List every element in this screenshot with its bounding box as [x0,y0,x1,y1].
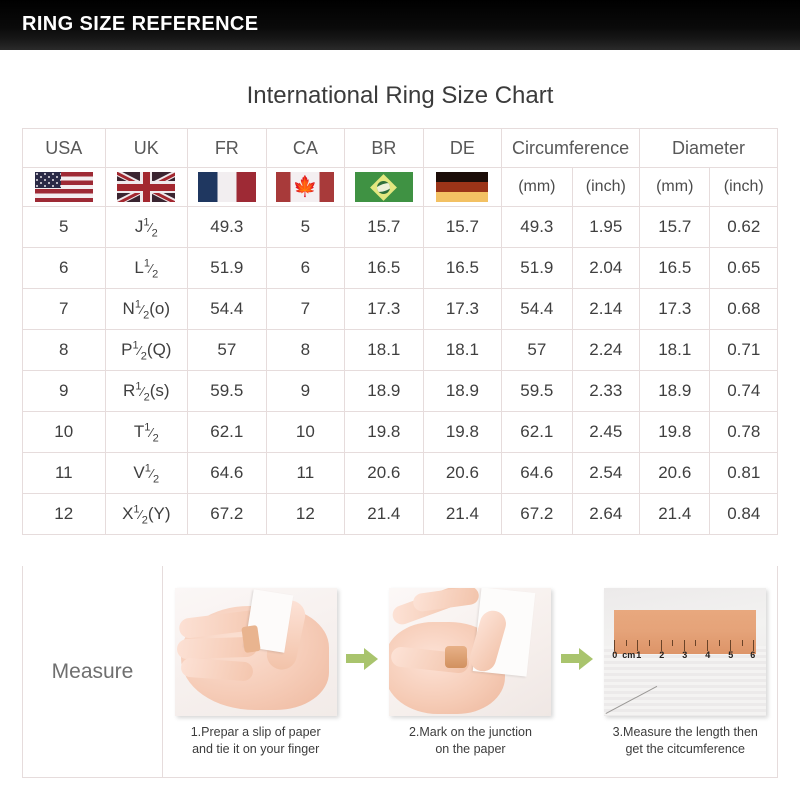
ruler-label: 1 [636,650,641,660]
cell-circumference-inch: 2.14 [572,289,639,330]
page-banner: RING SIZE REFERENCE [0,0,800,50]
caption-line-1: 2.Mark on the junction [409,725,532,739]
table-row: 8P1⁄2(Q)57818.118.1572.2418.10.71 [23,330,778,371]
measure-step-1: 1.Prepar a slip of paper and tie it on y… [171,588,341,758]
ruler-label: 4 [705,650,710,660]
column-header-circumference: Circumference [502,129,640,168]
measure-section: Measure 1.Prepar a slip of paper and tie… [22,566,778,778]
column-header-br: BR [345,129,424,168]
cell-ca-size: 12 [266,494,345,535]
measure-step-3: 0cm123456 3.Measure the length then get … [600,588,770,758]
measure-steps: 1.Prepar a slip of paper and tie it on y… [164,566,777,777]
cell-usa-size: 12 [23,494,106,535]
cell-circumference-mm: 51.9 [502,248,572,289]
cell-circumference-mm: 62.1 [502,412,572,453]
br-flag-icon [355,172,413,202]
cell-circumference-mm: 64.6 [502,453,572,494]
subheader-circumference-mm: (mm) [502,168,572,207]
cell-usa-size: 7 [23,289,106,330]
cell-diameter-mm: 17.3 [640,289,710,330]
cell-circumference-inch: 2.54 [572,453,639,494]
cell-diameter-mm: 18.1 [640,330,710,371]
ruler-label: cm [622,650,635,660]
subheader-diameter-mm: (mm) [640,168,710,207]
cell-br-size: 17.3 [345,289,424,330]
ruler-measuring-strip-photo: 0cm123456 [604,588,766,716]
cell-diameter-mm: 16.5 [640,248,710,289]
cell-fr-size: 51.9 [188,248,267,289]
cell-br-size: 21.4 [345,494,424,535]
marking-junction-photo [389,588,551,716]
cell-de-size: 18.1 [423,330,502,371]
cell-ca-size: 6 [266,248,345,289]
uk-flag-icon [117,172,175,202]
ruler-label: 6 [750,650,755,660]
fr-flag-icon [198,172,256,202]
cell-br-size: 16.5 [345,248,424,289]
caption-line-2: on the paper [435,742,505,756]
cell-circumference-inch: 2.24 [572,330,639,371]
cell-uk-size: J1⁄2 [105,207,188,248]
cell-diameter-inch: 0.65 [710,248,778,289]
cell-circumference-mm: 49.3 [502,207,572,248]
cell-diameter-inch: 0.74 [710,371,778,412]
cell-diameter-inch: 0.81 [710,453,778,494]
column-header-uk: UK [105,129,188,168]
cell-usa-size: 10 [23,412,106,453]
ca-flag-icon: 🍁 [276,172,334,202]
arrow-right-icon-2 [561,646,595,672]
us-flag-icon [35,172,93,202]
cell-uk-size: V1⁄2 [105,453,188,494]
cell-fr-size: 57 [188,330,267,371]
cell-fr-size: 59.5 [188,371,267,412]
cell-de-size: 19.8 [423,412,502,453]
cell-circumference-mm: 59.5 [502,371,572,412]
cell-uk-size: P1⁄2(Q) [105,330,188,371]
cell-diameter-mm: 19.8 [640,412,710,453]
cell-diameter-mm: 18.9 [640,371,710,412]
cell-fr-size: 62.1 [188,412,267,453]
cell-diameter-mm: 15.7 [640,207,710,248]
column-header-ca: CA [266,129,345,168]
ruler-label: 2 [659,650,664,660]
cell-de-size: 21.4 [423,494,502,535]
caption-line-1: 3.Measure the length then [613,725,758,739]
cell-ca-size: 7 [266,289,345,330]
cell-usa-size: 11 [23,453,106,494]
ruler-label: 5 [728,650,733,660]
cell-uk-size: L1⁄2 [105,248,188,289]
de-flag-icon [436,172,488,202]
cell-fr-size: 54.4 [188,289,267,330]
cell-usa-size: 8 [23,330,106,371]
measure-step-1-caption: 1.Prepar a slip of paper and tie it on y… [191,724,321,758]
table-row: 7N1⁄2(o)54.4717.317.354.42.1417.30.68 [23,289,778,330]
table-row: 6L1⁄251.9616.516.551.92.0416.50.65 [23,248,778,289]
cell-br-size: 19.8 [345,412,424,453]
cell-circumference-mm: 67.2 [502,494,572,535]
cell-ca-size: 10 [266,412,345,453]
cell-ca-size: 11 [266,453,345,494]
cell-diameter-inch: 0.68 [710,289,778,330]
cell-ca-size: 5 [266,207,345,248]
column-header-de: DE [423,129,502,168]
cell-ca-size: 8 [266,330,345,371]
cell-usa-size: 9 [23,371,106,412]
column-header-diameter: Diameter [640,129,778,168]
cell-diameter-inch: 0.78 [710,412,778,453]
cell-uk-size: X1⁄2(Y) [105,494,188,535]
cell-diameter-mm: 21.4 [640,494,710,535]
caption-line-1: 1.Prepar a slip of paper [191,725,321,739]
caption-line-2: and tie it on your finger [192,742,319,756]
cell-fr-size: 64.6 [188,453,267,494]
table-row: 12X1⁄2(Y)67.21221.421.467.22.6421.40.84 [23,494,778,535]
table-row: 11V1⁄264.61120.620.664.62.5420.60.81 [23,453,778,494]
ring-size-table: USA UK FR CA BR DE Circumference Diamete… [22,128,778,535]
table-row: 9R1⁄2(s)59.5918.918.959.52.3318.90.74 [23,371,778,412]
table-flag-row: 🍁 (mm) (inch) (mm) (inch) [23,168,778,207]
table-row: 10T1⁄262.11019.819.862.12.4519.80.78 [23,412,778,453]
cell-circumference-mm: 54.4 [502,289,572,330]
table-header-row: USA UK FR CA BR DE Circumference Diamete… [23,129,778,168]
cell-diameter-mm: 20.6 [640,453,710,494]
ruler-numbers: 0cm123456 [612,650,760,664]
table-body: 5J1⁄249.3515.715.749.31.9515.70.626L1⁄25… [23,207,778,535]
arrow-right-icon-1 [346,646,380,672]
cell-usa-size: 5 [23,207,106,248]
ruler-label: 0 [612,650,617,660]
cell-diameter-inch: 0.71 [710,330,778,371]
flag-cell-usa [23,168,106,207]
cell-circumference-inch: 2.33 [572,371,639,412]
measure-label: Measure [23,566,163,777]
cell-circumference-inch: 2.45 [572,412,639,453]
cell-diameter-inch: 0.84 [710,494,778,535]
cell-de-size: 17.3 [423,289,502,330]
cell-ca-size: 9 [266,371,345,412]
cell-de-size: 20.6 [423,453,502,494]
flag-cell-fr [188,168,267,207]
cell-diameter-inch: 0.62 [710,207,778,248]
column-header-fr: FR [188,129,267,168]
cell-uk-size: T1⁄2 [105,412,188,453]
cell-de-size: 15.7 [423,207,502,248]
cell-circumference-inch: 1.95 [572,207,639,248]
flag-cell-de [423,168,502,207]
ruler-label: 3 [682,650,687,660]
caption-line-2: get the citcumference [625,742,745,756]
flag-cell-uk [105,168,188,207]
banner-title: RING SIZE REFERENCE [22,13,259,36]
cell-br-size: 15.7 [345,207,424,248]
cell-de-size: 18.9 [423,371,502,412]
cell-fr-size: 67.2 [188,494,267,535]
cell-br-size: 20.6 [345,453,424,494]
flag-cell-ca: 🍁 [266,168,345,207]
cell-uk-size: R1⁄2(s) [105,371,188,412]
cell-fr-size: 49.3 [188,207,267,248]
cell-circumference-mm: 57 [502,330,572,371]
ring-size-reference-page: RING SIZE REFERENCE International Ring S… [0,0,800,800]
cell-circumference-inch: 2.64 [572,494,639,535]
cell-circumference-inch: 2.04 [572,248,639,289]
cell-de-size: 16.5 [423,248,502,289]
flag-cell-br [345,168,424,207]
cell-uk-size: N1⁄2(o) [105,289,188,330]
measure-step-2-caption: 2.Mark on the junction on the paper [409,724,532,758]
measure-step-3-caption: 3.Measure the length then get the citcum… [613,724,758,758]
subheader-circumference-inch: (inch) [572,168,639,207]
column-header-usa: USA [23,129,106,168]
table-row: 5J1⁄249.3515.715.749.31.9515.70.62 [23,207,778,248]
cell-usa-size: 6 [23,248,106,289]
cell-br-size: 18.1 [345,330,424,371]
measure-step-2: 2.Mark on the junction on the paper [385,588,555,758]
subheader-diameter-inch: (inch) [710,168,778,207]
cell-br-size: 18.9 [345,371,424,412]
page-title: International Ring Size Chart [0,82,800,110]
hand-with-paper-slip-photo [175,588,337,716]
